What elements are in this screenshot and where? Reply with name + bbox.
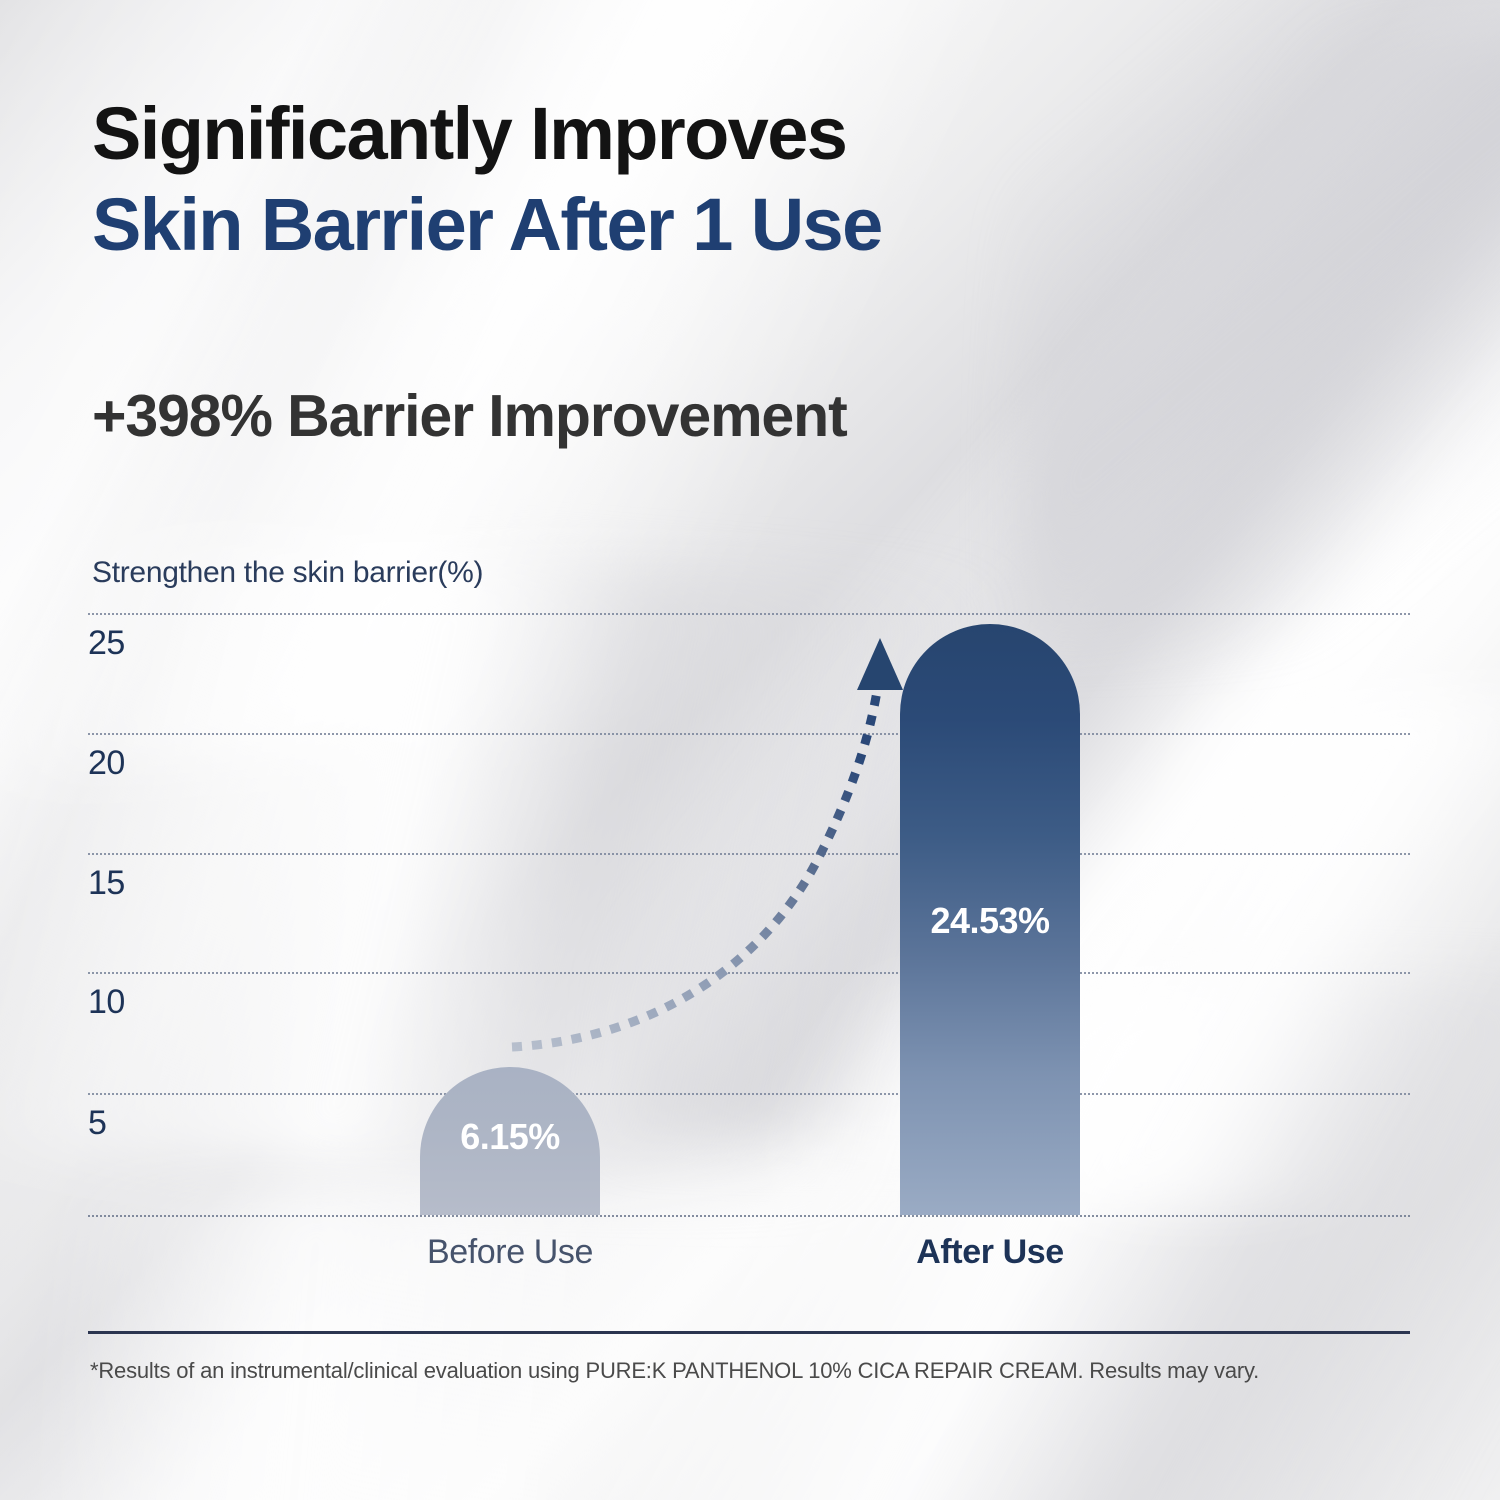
gridline-10: [88, 972, 1410, 974]
xlabel-after-use: After Use: [840, 1233, 1140, 1272]
ytick-label-5: 5: [88, 1104, 106, 1143]
footnote-text: *Results of an instrumental/clinical eva…: [90, 1358, 1259, 1384]
bar-value-before: 6.15%: [420, 1116, 600, 1158]
bar-value-after: 24.53%: [900, 900, 1080, 942]
xlabel-before-use: Before Use: [360, 1233, 660, 1272]
chart-axis-title: Strengthen the skin barrier(%): [92, 556, 483, 590]
ytick-label-20: 20: [88, 744, 125, 783]
gridline-baseline: [88, 1215, 1410, 1217]
footer-divider: [88, 1331, 1410, 1334]
bar-chart: Strengthen the skin barrier(%) 25 20 15 …: [0, 0, 1500, 1500]
ytick-label-15: 15: [88, 864, 125, 903]
ytick-label-25: 25: [88, 624, 125, 663]
ytick-label-10: 10: [88, 983, 125, 1022]
gridline-15: [88, 853, 1410, 855]
gridline-5: [88, 1093, 1410, 1095]
trend-arrow-icon: [0, 0, 1500, 1500]
gridline-25: [88, 613, 1410, 615]
gridline-20: [88, 733, 1410, 735]
